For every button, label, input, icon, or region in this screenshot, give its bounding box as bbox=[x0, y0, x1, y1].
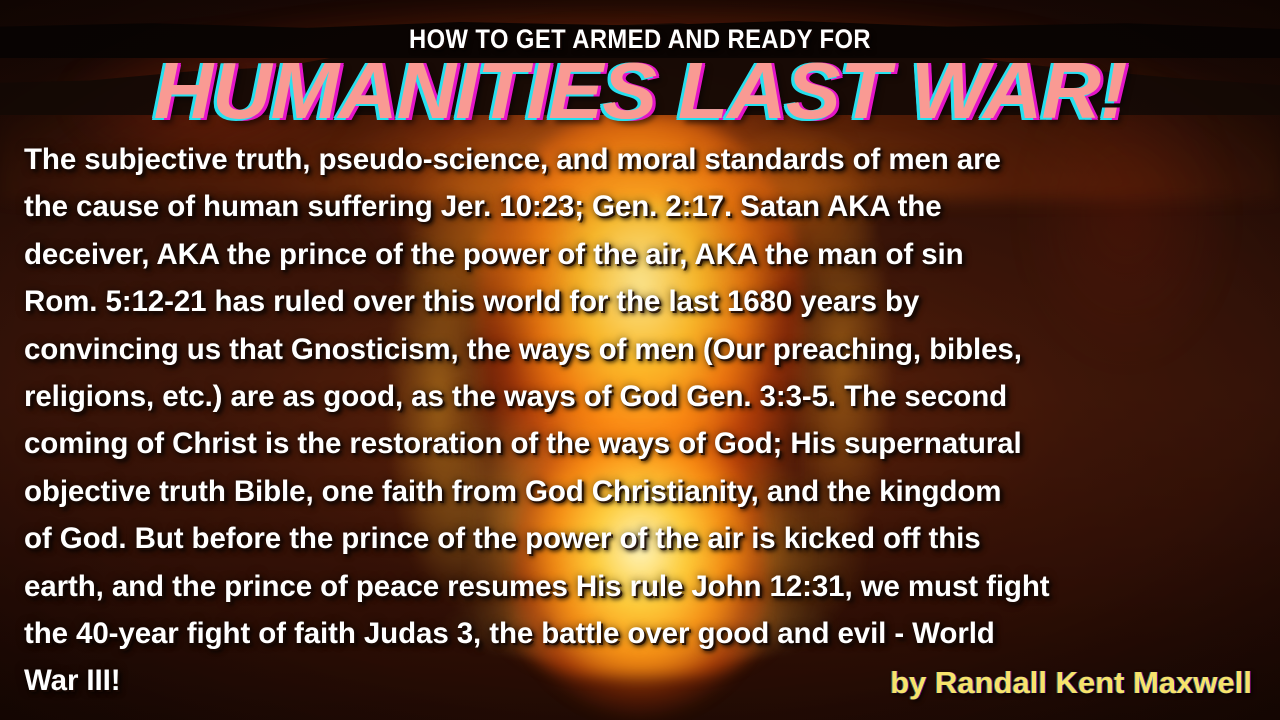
body-line: of God. But before the prince of the pow… bbox=[24, 515, 1256, 562]
body-line: The subjective truth, pseudo-science, an… bbox=[24, 136, 1256, 183]
body-line: Rom. 5:12-21 has ruled over this world f… bbox=[24, 278, 1256, 325]
body-text-block: The subjective truth, pseudo-science, an… bbox=[24, 136, 1256, 705]
poster-canvas: HOW TO GET ARMED AND READY FOR HUMANITIE… bbox=[0, 0, 1280, 720]
body-line: objective truth Bible, one faith from Go… bbox=[24, 468, 1256, 515]
body-line: religions, etc.) are as good, as the way… bbox=[24, 373, 1256, 420]
body-line: coming of Christ is the restoration of t… bbox=[24, 420, 1256, 467]
body-line: the 40-year fight of faith Judas 3, the … bbox=[24, 610, 1256, 657]
author-byline: by Randall Kent Maxwell bbox=[890, 665, 1252, 701]
page-title: HUMANITIES LAST WAR! bbox=[0, 48, 1280, 134]
body-line: earth, and the prince of peace resumes H… bbox=[24, 563, 1256, 610]
body-line: the cause of human suffering Jer. 10:23;… bbox=[24, 183, 1256, 230]
poster-content: HOW TO GET ARMED AND READY FOR HUMANITIE… bbox=[0, 0, 1280, 720]
body-line: convincing us that Gnosticism, the ways … bbox=[24, 326, 1256, 373]
body-line: deceiver, AKA the prince of the power of… bbox=[24, 231, 1256, 278]
